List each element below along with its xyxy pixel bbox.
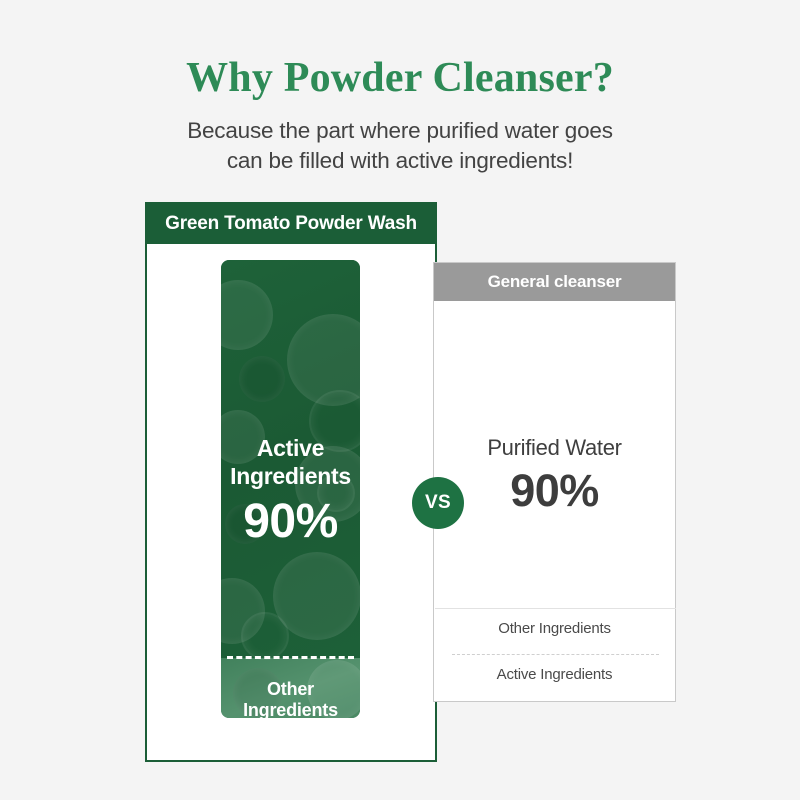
- general-other-ingredients-label: Other Ingredients: [434, 620, 675, 637]
- infographic-root: Why Powder Cleanser? Because the part wh…: [0, 0, 800, 800]
- subtitle-line-1: Because the part where purified water go…: [0, 118, 800, 144]
- bottle-other-label: Other Ingredients: [221, 679, 360, 718]
- bubble-icon: [241, 612, 289, 660]
- general-active-ingredients-label: Active Ingredients: [434, 666, 675, 683]
- purified-water-percentage: 90%: [434, 465, 675, 517]
- general-divider-dashed: [452, 654, 659, 655]
- bottle-active-label-line2: Ingredients: [221, 462, 360, 490]
- product-card-general-cleanser: General cleanser Purified Water 90% Othe…: [433, 262, 676, 702]
- page-title: Why Powder Cleanser?: [0, 54, 800, 102]
- powder-wash-bottle-graphic: Active Ingredients 90% Other Ingredients: [221, 260, 360, 718]
- purified-water-label: Purified Water: [434, 435, 675, 461]
- bottle-divider-dashed: [227, 656, 354, 659]
- bottle-active-percentage: 90%: [221, 494, 360, 549]
- bubble-icon: [239, 356, 285, 402]
- subtitle-line-2: can be filled with active ingredients!: [0, 148, 800, 174]
- bottle-active-label-line1: Active: [221, 434, 360, 462]
- general-cleanser-header: General cleanser: [434, 263, 675, 301]
- bottle-active-label: Active Ingredients: [221, 434, 360, 490]
- general-divider-solid: [435, 608, 676, 609]
- product-card-header: Green Tomato Powder Wash: [147, 204, 435, 244]
- vs-badge: VS: [412, 477, 464, 529]
